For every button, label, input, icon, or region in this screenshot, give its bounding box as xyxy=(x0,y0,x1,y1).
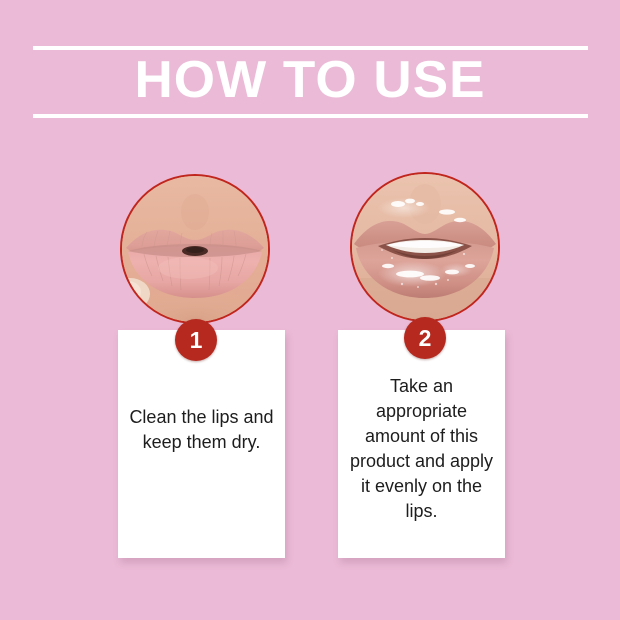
step-card-1: 1 Clean the lips and keep them dry. xyxy=(118,160,285,580)
page-title: HOW TO USE xyxy=(0,51,620,109)
step-card-2: 2 Take an appropriate amount of this pro… xyxy=(338,160,505,580)
step-caption-2: Take an appropriate amount of this produ… xyxy=(346,374,497,524)
divider-line-top xyxy=(33,46,588,50)
step-number-badge-1: 1 xyxy=(175,319,217,361)
page-header: HOW TO USE xyxy=(0,0,620,130)
divider-line-bottom xyxy=(33,114,588,118)
bare-lips-photo xyxy=(120,174,270,324)
step-number-badge-2: 2 xyxy=(404,317,446,359)
step-caption-1: Clean the lips and keep them dry. xyxy=(126,405,277,455)
steps-container: 1 Clean the lips and keep them dry. xyxy=(0,160,620,580)
glossy-lips-photo xyxy=(350,172,500,322)
glossy-lips-illustration xyxy=(352,174,498,320)
bare-lips-illustration xyxy=(122,176,268,322)
